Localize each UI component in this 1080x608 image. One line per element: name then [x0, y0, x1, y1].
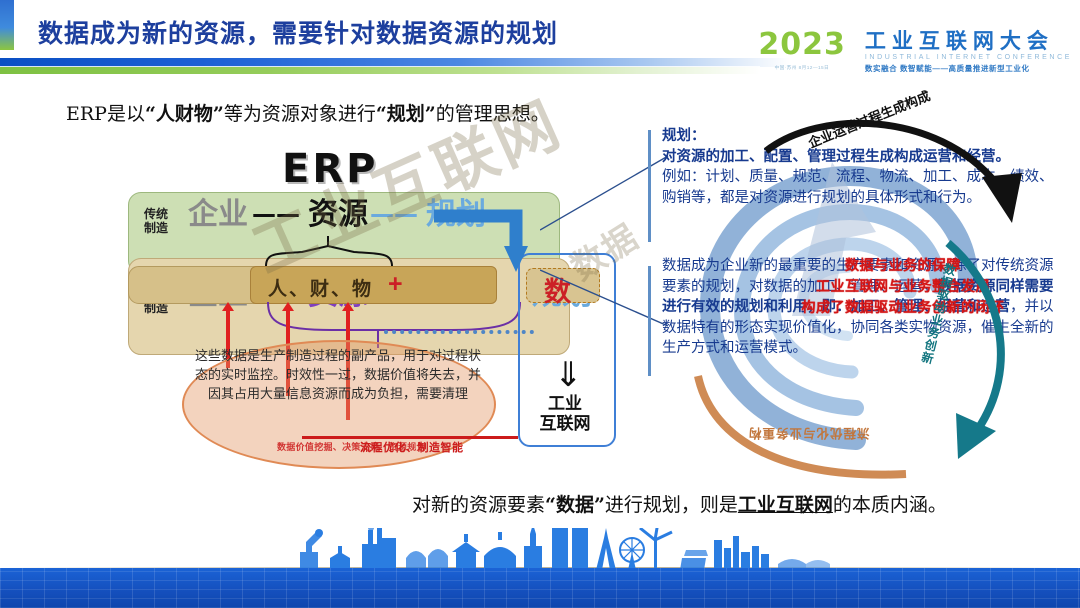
lead-sentence: ERP是以“人财物”等为资源对象进行“规划”的管理思想。: [66, 99, 550, 126]
plus-sign: +: [388, 270, 403, 299]
logo-en-name: INDUSTRIAL INTERNET CONFERENCE: [865, 54, 1072, 61]
page-title: 数据成为新的资源，需要针对数据资源的规划: [38, 14, 558, 50]
concl-part3: 的本质内涵。: [833, 494, 947, 516]
erp-trad-dash1: ——: [252, 202, 300, 226]
conclusion-sentence: 对新的资源要素“数据”进行规划，则是工业互联网的本质内涵。: [412, 490, 947, 517]
traditional-label: 传统制造: [136, 208, 176, 236]
resource-items: 人、财、物: [268, 274, 373, 301]
right-bar-1: [648, 130, 651, 242]
lead-part3: 的管理思想。: [436, 103, 550, 125]
planning-heading: 规划：: [662, 127, 706, 144]
lead-quote1: “人财物”: [145, 103, 224, 125]
skyline-illustration: [0, 528, 1080, 570]
logo-slogan: 数实融合 数智赋能——高质量推进新型工业化: [865, 63, 1072, 74]
erp-trad-resource: 资源: [308, 200, 368, 230]
logo-name-block: 工业互联网大会 INDUSTRIAL INTERNET CONFERENCE 数…: [856, 30, 1072, 74]
resource-brace: [262, 234, 402, 268]
note-ellipse-text: 这些数据是生产制造过程的副产品，用于对过程状态的实时监控。时效性一过，数据价值将…: [190, 348, 486, 405]
orange-arrow-label: 流程优化与业务重构: [748, 425, 870, 444]
erp-title: ERP: [282, 146, 378, 192]
concl-bold: 工业互联网: [738, 494, 833, 516]
red-note: 流程优化、制造智能: [360, 439, 464, 455]
slide-root: 数据成为新的资源，需要针对数据资源的规划 2023 中国·苏州 8月12—15日…: [0, 0, 1080, 608]
logo-date: 中国·苏州 8月12—15日: [775, 64, 830, 71]
concl-part2: 进行规划，则是: [605, 494, 738, 516]
concl-quote: “数据”: [545, 494, 605, 516]
conference-logo: 2023 中国·苏州 8月12—15日 工业互联网大会 INDUSTRIAL I…: [758, 30, 1072, 76]
header-divider-green: [0, 67, 760, 74]
erp-trad-dash2: ——: [370, 202, 418, 226]
industrial-internet-label: 工业互联网: [524, 395, 606, 434]
dotted-blue-line: [384, 330, 534, 334]
lead-part2: 等为资源对象进行: [224, 103, 376, 125]
logo-cn-name: 工业互联网大会: [865, 30, 1072, 52]
logo-year-block: 2023 中国·苏州 8月12—15日: [758, 30, 855, 71]
concl-part1: 对新的资源要素: [412, 494, 545, 516]
down-arrow-icon: ⇓: [554, 358, 583, 392]
header-accent-bar: [0, 0, 14, 50]
footer-ground: [0, 568, 1080, 608]
logo-year: 2023: [758, 30, 846, 60]
lead-quote2: “规划”: [376, 103, 436, 125]
erp-trad-enterprise: 企业: [188, 200, 248, 230]
slide-header: 数据成为新的资源，需要针对数据资源的规划 2023 中国·苏州 8月12—15日…: [0, 0, 1080, 82]
lead-part1: ERP是以: [66, 103, 145, 125]
slide-footer: [0, 528, 1080, 608]
right-bar-2: [648, 266, 651, 376]
